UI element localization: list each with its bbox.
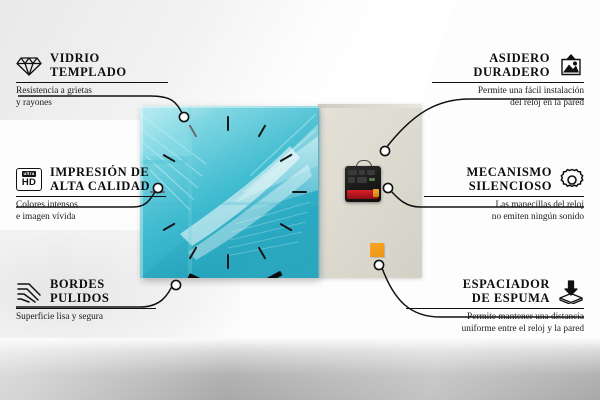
feature-description: Permite una fácil instalación del reloj … <box>432 86 584 109</box>
feature-header: VIDRIOTEMPLADO <box>16 52 168 79</box>
feature-title-line1: MECANISMO <box>466 165 552 179</box>
feature-title-line1: ASIDERO <box>489 51 550 65</box>
feature-divider <box>424 196 584 197</box>
feature-header: BORDESPULIDOS <box>16 278 156 305</box>
feature-impresion-alta-calidad: ultra HD IMPRESIÓN DEALTA CALIDAD Colore… <box>16 166 166 223</box>
ultra-hd-icon: ultra HD <box>16 168 42 191</box>
connector-node-bordes <box>171 280 180 289</box>
feature-title-line2: TEMPLADO <box>50 65 127 79</box>
feature-title: ASIDERODURADERO <box>473 52 550 79</box>
hd-badge-text: HD <box>22 178 36 188</box>
feature-title: MECANISMOSILENCIOSO <box>466 166 552 193</box>
feature-title-line2: DE ESPUMA <box>472 291 550 305</box>
feature-bordes-pulidos: BORDESPULIDOS Superficie lisa y segura <box>16 278 156 324</box>
feature-title-line2: ALTA CALIDAD <box>50 179 150 193</box>
foam-spacer-icon <box>558 280 584 304</box>
feature-title-line1: VIDRIO <box>50 51 100 65</box>
feature-divider <box>16 308 156 309</box>
feature-title-line1: ESPACIADOR <box>463 277 550 291</box>
connector-node-asidero <box>380 146 389 155</box>
feature-description: Permite mantener una distancia uniforme … <box>406 312 584 335</box>
feature-mecanismo-silencioso: MECANISMOSILENCIOSO Las manecillas del r… <box>424 166 584 223</box>
feature-divider <box>16 196 166 197</box>
infographic-canvas: VIDRIOTEMPLADO Resistencia a grietas y r… <box>0 0 600 400</box>
feature-divider <box>432 82 584 83</box>
feature-header: MECANISMOSILENCIOSO <box>424 166 584 193</box>
feature-description: Resistencia a grietas y rayones <box>16 86 168 109</box>
feature-description: Colores intensos e imagen vívida <box>16 200 166 223</box>
feature-header: ultra HD IMPRESIÓN DEALTA CALIDAD <box>16 166 166 193</box>
feature-title-line2: SILENCIOSO <box>469 179 552 193</box>
gear-icon <box>560 168 584 192</box>
diamond-icon <box>16 55 42 77</box>
feature-title-line2: PULIDOS <box>50 291 109 305</box>
feature-title: ESPACIADORDE ESPUMA <box>463 278 550 305</box>
feature-title: VIDRIOTEMPLADO <box>50 52 127 79</box>
connector-node-vidrio <box>179 112 188 121</box>
feature-espaciador-de-espuma: ESPACIADORDE ESPUMA Permite mantener una… <box>406 278 584 335</box>
connector-node-espaciador <box>374 260 383 269</box>
polished-edges-icon <box>16 281 42 303</box>
feature-header: ASIDERODURADERO <box>432 52 584 79</box>
wall-hanger-icon <box>558 54 584 77</box>
feature-asidero-duradero: ASIDERODURADERO Permite una fácil instal… <box>432 52 584 109</box>
bottom-band-shine <box>0 338 600 400</box>
feature-title: BORDESPULIDOS <box>50 278 109 305</box>
feature-description: Las manecillas del reloj no emiten ningú… <box>424 200 584 223</box>
feature-header: ESPACIADORDE ESPUMA <box>406 278 584 305</box>
feature-divider <box>16 82 168 83</box>
feature-title-line2: DURADERO <box>473 65 550 79</box>
feature-title-line1: BORDES <box>50 277 105 291</box>
feature-divider <box>406 308 584 309</box>
feature-vidrio-templado: VIDRIOTEMPLADO Resistencia a grietas y r… <box>16 52 168 109</box>
feature-title-line1: IMPRESIÓN DE <box>50 165 149 179</box>
feature-description: Superficie lisa y segura <box>16 312 156 323</box>
feature-title: IMPRESIÓN DEALTA CALIDAD <box>50 166 150 193</box>
connector-node-mecanismo <box>383 183 392 192</box>
